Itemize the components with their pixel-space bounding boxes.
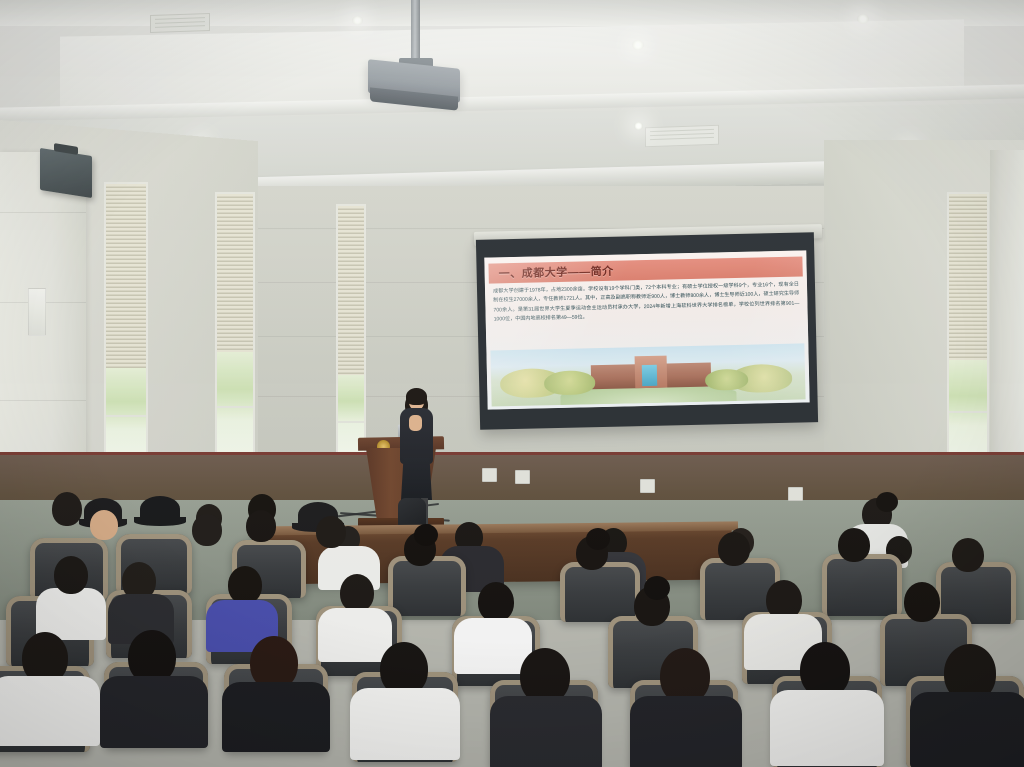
window-left-1 (104, 182, 148, 482)
loudspeaker-icon (40, 148, 92, 198)
slide-title-bar: 一、成都大学——简介 (488, 256, 802, 283)
slide-canvas: 一、成都大学——简介 成都大学创建于1978年，占地2300余亩。学校设有19个… (484, 250, 809, 409)
air-vent-left (150, 13, 210, 33)
audience-body (222, 682, 330, 752)
audience-cap (140, 496, 180, 522)
auditorium-seat[interactable] (388, 556, 466, 616)
projection-screen[interactable]: 一、成都大学——简介 成都大学创建于1978年，占地2300余亩。学校设有19个… (476, 232, 818, 430)
audience-area (0, 470, 1024, 767)
air-vent-right (645, 125, 719, 148)
window-blind-2 (217, 194, 253, 352)
downlight-3 (857, 14, 869, 24)
audience-head (228, 566, 262, 604)
audience-hair-bun (876, 492, 898, 512)
photo-tree-4 (704, 368, 748, 390)
audience-head (904, 582, 940, 622)
window-mullion-4 (949, 411, 987, 413)
downlight-1 (352, 16, 363, 25)
downlight-2 (632, 40, 644, 50)
slide-title: 一、成都大学——简介 (488, 263, 613, 282)
audience-head (192, 514, 222, 546)
slide-body-text: 成都大学创建于1978年，占地2300余亩。学校设有19个学科门类，72个本科专… (493, 281, 800, 350)
window-mullion-3 (338, 421, 364, 423)
projected-slide: 一、成都大学——简介 成都大学创建于1978年，占地2300余亩。学校设有19个… (484, 250, 809, 409)
window-blind-4 (949, 194, 987, 360)
window-blind-3 (338, 206, 364, 375)
audience-body (490, 696, 602, 767)
window-mullion-2 (217, 406, 253, 408)
projector-mount-pole (411, 0, 420, 62)
audience-head (246, 510, 276, 542)
audience-body (0, 676, 100, 746)
window-left-2 (215, 192, 255, 478)
window-left-3 (336, 204, 366, 464)
audience-head (316, 516, 346, 548)
presenter-hands (409, 415, 422, 431)
lecture-hall-photo: 一、成都大学——简介 成都大学创建于1978年，占地2300余亩。学校设有19个… (0, 0, 1024, 767)
audience-head (838, 528, 870, 562)
audience-head (952, 538, 984, 572)
audience-body (318, 608, 392, 662)
audience-hair-bun (414, 524, 438, 546)
audience-body (770, 690, 884, 766)
audience-head (718, 532, 750, 566)
audience-body (350, 688, 460, 760)
wall-notice (28, 288, 46, 336)
photo-building-glass (641, 365, 657, 387)
audience-head (54, 556, 88, 594)
auditorium-seat[interactable] (560, 562, 640, 622)
window-right-1 (947, 192, 989, 482)
window-mullion-1 (106, 415, 146, 417)
audience-body (454, 618, 532, 674)
audience-hair-bun (586, 528, 610, 550)
audience-head (478, 582, 514, 622)
auditorium-seat[interactable] (822, 554, 902, 616)
photo-tree-2 (544, 371, 595, 396)
slide-campus-photo (490, 343, 805, 406)
presenter-hair (406, 388, 427, 405)
audience-body (910, 692, 1024, 767)
audience-head (90, 510, 118, 540)
audience-head (52, 492, 82, 526)
audience-body (100, 676, 208, 748)
audience-hair-bun (644, 576, 670, 600)
downlight-4 (634, 122, 643, 130)
audience-body (630, 696, 742, 767)
audience-head (340, 574, 374, 612)
window-blind-1 (106, 184, 146, 368)
